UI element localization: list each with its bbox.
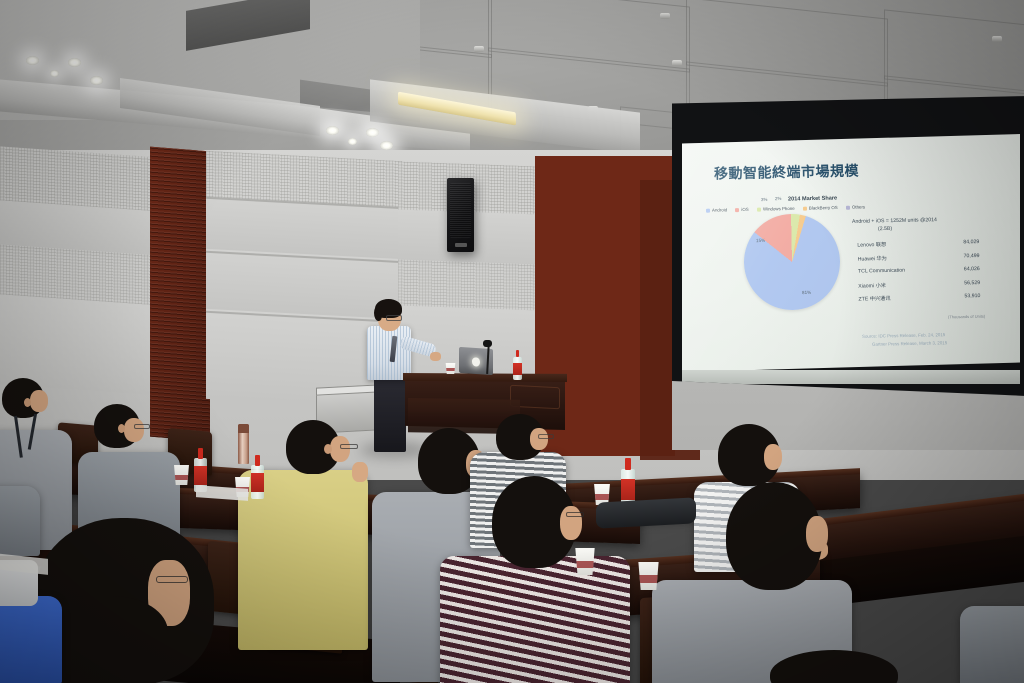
legend-item-bb: BlackBerry OS xyxy=(803,205,838,211)
bottle-label xyxy=(251,473,264,491)
pie-label-ios: 15% xyxy=(756,238,765,243)
vendor-table: Lenovo 联想 84,029 Huawei 华为 70,499 TCL Co… xyxy=(857,238,1008,309)
water-bottle xyxy=(251,455,264,499)
thermos-flask xyxy=(238,424,249,464)
legend-label-bb: BlackBerry OS xyxy=(809,205,838,211)
person-ear xyxy=(118,424,125,433)
ceiling-clip xyxy=(474,46,484,52)
bottle-cap xyxy=(198,448,204,459)
legend-label-ios: iOS xyxy=(741,207,748,212)
summary-line-2: (2.5B) xyxy=(878,226,892,232)
bottle-cap xyxy=(255,455,261,466)
ceiling-spotlight xyxy=(50,70,59,77)
vendor-name: Xiaomi 小米 xyxy=(858,281,886,289)
ceiling-spotlight xyxy=(326,126,339,135)
person-torso xyxy=(960,606,1024,683)
slide-title: 移動智能終端市場規模 xyxy=(714,160,859,183)
presenter-hair-side xyxy=(374,306,382,321)
person-face xyxy=(330,436,350,462)
person-glasses xyxy=(566,512,584,517)
person-torso xyxy=(0,596,62,683)
vendor-value: 53,910 xyxy=(964,293,980,299)
thermos-cap xyxy=(238,424,249,433)
person-glasses xyxy=(340,444,358,449)
summary-line-1: Android + iOS = 1252M units @2014 xyxy=(852,217,937,225)
source-line-2: Gartner Press Release, March 3, 2015 xyxy=(872,340,947,347)
legend-label-android: Android xyxy=(712,207,727,212)
ceiling-clip xyxy=(660,13,670,19)
person-face xyxy=(30,390,48,412)
paper-cup xyxy=(173,465,190,485)
vendor-name: Lenovo 联想 xyxy=(857,241,886,249)
slide-content: 移動智能終端市場規模 2014 Market Share 3% 2% Andro… xyxy=(682,134,1020,372)
chart-legend: Android iOS Windows Phone BlackBerry OS … xyxy=(706,204,872,212)
paper-cup xyxy=(445,363,456,374)
wood-slat-panel-left xyxy=(150,147,210,442)
table-units-note: (Thousands of Units) xyxy=(948,314,985,320)
person-glasses xyxy=(156,576,188,583)
legend-swatch-bb xyxy=(803,206,807,210)
ceiling-spotlight xyxy=(348,138,357,145)
speaker-grille xyxy=(450,183,471,238)
presenter-hand xyxy=(430,352,441,361)
pie-label-wp: 3% xyxy=(761,197,767,202)
table-row: ZTE 中兴通讯 53,910 xyxy=(858,292,1008,309)
person-torso xyxy=(440,556,630,683)
wall-speaker xyxy=(447,178,474,252)
ceiling-spotlight xyxy=(26,56,39,65)
source-line-1: Source: IDC Press Release, Feb. 24, 2015 xyxy=(862,332,945,339)
vendor-value: 56,529 xyxy=(964,280,980,286)
microphone-head xyxy=(483,340,492,347)
vendor-name: TCL Communication xyxy=(858,268,905,275)
ceiling-clip xyxy=(992,36,1002,42)
legend-swatch-wp xyxy=(757,207,761,211)
person-glasses xyxy=(538,434,554,439)
ceiling-spotlight xyxy=(380,141,393,150)
cup-band xyxy=(445,368,456,371)
vendor-value: 84,029 xyxy=(963,239,979,245)
legend-item-ios: iOS xyxy=(735,207,748,212)
pie-chart xyxy=(743,213,841,311)
ceiling-spotlight xyxy=(90,76,103,85)
legend-label-others: Others xyxy=(852,204,865,209)
person-ear xyxy=(24,398,31,407)
legend-item-others: Others xyxy=(846,204,865,209)
presenter-trousers xyxy=(374,376,406,452)
person-face xyxy=(530,428,548,450)
water-bottle xyxy=(513,350,522,380)
bottle-label xyxy=(621,479,635,500)
vendor-value: 64,026 xyxy=(964,266,980,272)
legend-swatch-android xyxy=(706,208,710,212)
legend-item-android: Android xyxy=(706,207,727,212)
apple-logo-icon xyxy=(472,357,480,367)
cup-band xyxy=(593,494,611,499)
bottle-cap xyxy=(625,458,631,470)
chart-title: 2014 Market Share xyxy=(788,195,837,202)
presenter-shirt xyxy=(367,326,411,380)
legend-swatch-others xyxy=(846,206,850,210)
ceiling-clip xyxy=(672,60,682,66)
person-glasses xyxy=(134,424,150,429)
paper-cup xyxy=(574,548,596,575)
ceiling-spotlight xyxy=(68,58,81,67)
vendor-name: ZTE 中兴通讯 xyxy=(858,295,890,303)
bag xyxy=(596,497,696,528)
person-hand xyxy=(352,462,368,482)
ceiling-spotlight xyxy=(366,128,379,137)
paper-cup xyxy=(637,562,660,590)
photo-scene: 移動智能終端市場規模 2014 Market Share 3% 2% Andro… xyxy=(0,0,1024,683)
cup-band xyxy=(173,475,190,480)
legend-item-wp: Windows Phone xyxy=(757,206,795,212)
legend-label-wp: Windows Phone xyxy=(763,206,795,212)
bottle-cap xyxy=(516,350,520,357)
screen-bottom-margin xyxy=(682,370,1020,384)
projection-screen: 移動智能終端市場規模 2014 Market Share 3% 2% Andro… xyxy=(672,96,1024,396)
bottle-label xyxy=(194,466,207,484)
speaker-logo xyxy=(455,243,467,247)
person-face xyxy=(124,418,144,442)
person-face xyxy=(764,444,782,470)
presenter-glasses xyxy=(386,315,402,321)
vendor-value: 70,499 xyxy=(964,253,980,259)
pie-label-android: 81% xyxy=(802,290,811,295)
cup-band xyxy=(574,561,596,568)
projection-screen-surface: 移動智能終端市場規模 2014 Market Share 3% 2% Andro… xyxy=(682,134,1020,372)
person-torso xyxy=(0,486,40,556)
person-ear xyxy=(324,444,332,454)
vendor-name: Huawei 华为 xyxy=(858,254,887,262)
legend-swatch-ios xyxy=(735,208,739,212)
cup-band xyxy=(637,575,660,582)
bottle-label xyxy=(513,363,522,376)
pie-label-bb: 2% xyxy=(775,196,781,201)
person-face xyxy=(806,516,828,552)
